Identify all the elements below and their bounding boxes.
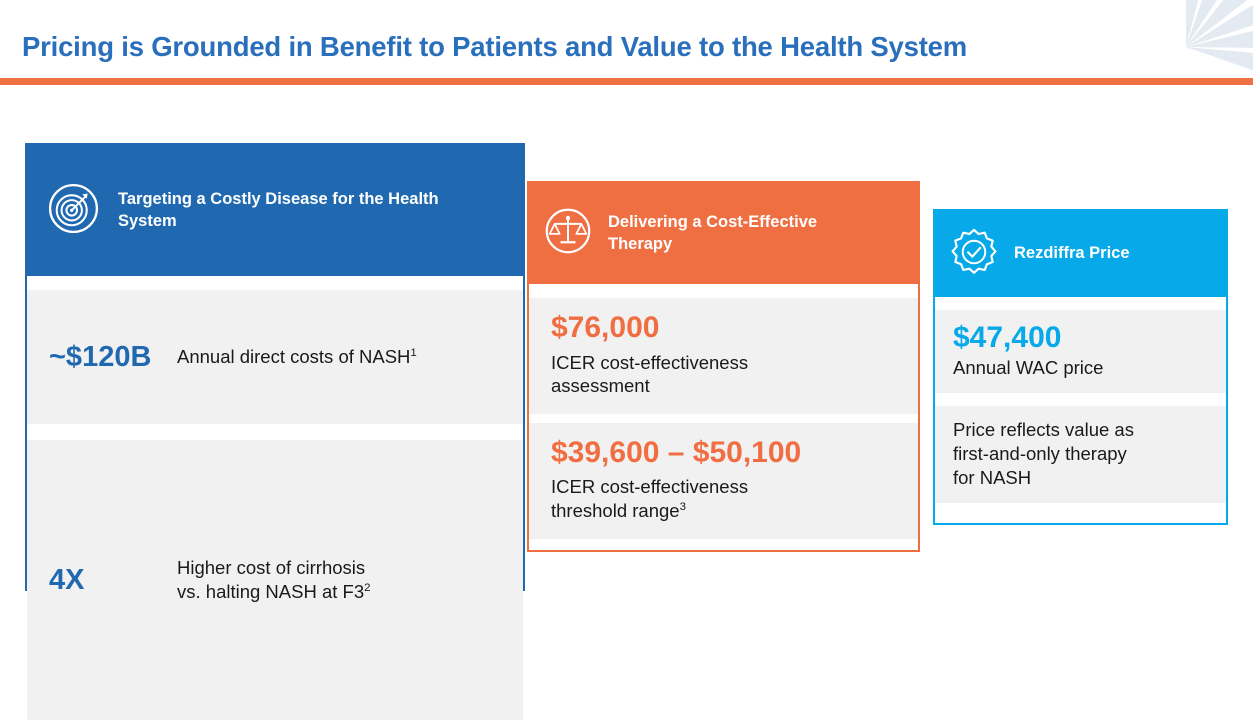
metric-description: Price reflects value asfirst-and-only th… <box>953 418 1208 489</box>
card-cost-effective-therapy-title: Delivering a Cost-Effective Therapy <box>608 212 880 256</box>
target-icon <box>47 182 100 240</box>
balance-scale-icon <box>543 206 593 261</box>
table-row: ~$120B Annual direct costs of NASH1 <box>27 290 523 424</box>
card-costly-disease-header: Targeting a Costly Disease for the Healt… <box>27 145 523 276</box>
metric-description: Annual WAC price <box>953 356 1208 380</box>
card-cost-effective-therapy-body: $76,000 ICER cost-effectivenessassessmen… <box>529 284 918 539</box>
metric-description: Annual direct costs of NASH1 <box>177 345 417 369</box>
card-rezdiffra-price-title: Rezdiffra Price <box>1014 243 1130 265</box>
metric-value: $39,600 – $50,100 <box>551 437 896 469</box>
metric-description: Higher cost of cirrhosisvs. halting NASH… <box>177 556 371 603</box>
table-row: 4X Higher cost of cirrhosisvs. halting N… <box>27 440 523 720</box>
metric-value: ~$120B <box>49 342 177 372</box>
metric-value: 4X <box>49 565 177 595</box>
footnote-marker: 1 <box>410 347 416 359</box>
card-rezdiffra-price: Rezdiffra Price $47,400 Annual WAC price… <box>933 209 1228 525</box>
table-row: $39,600 – $50,100 ICER cost-effectivenes… <box>529 423 918 539</box>
table-row: $76,000 ICER cost-effectivenessassessmen… <box>529 298 918 414</box>
card-costly-disease-body: ~$120B Annual direct costs of NASH1 4X H… <box>27 276 523 720</box>
footnote-marker: 3 <box>680 501 686 513</box>
card-costly-disease-title: Targeting a Costly Disease for the Healt… <box>118 189 448 233</box>
metric-description: ICER cost-effectivenessassessment <box>551 351 896 398</box>
decorative-fan-graphic <box>1148 0 1253 80</box>
footnote-marker: 2 <box>364 582 370 594</box>
metric-description: ICER cost-effectivenessthreshold range3 <box>551 475 896 522</box>
metric-value: $47,400 <box>953 322 1208 354</box>
card-cost-effective-therapy: Delivering a Cost-Effective Therapy $76,… <box>527 181 920 552</box>
metric-value: $76,000 <box>551 312 896 344</box>
table-row: $47,400 Annual WAC price <box>935 310 1226 393</box>
page-title: Pricing is Grounded in Benefit to Patien… <box>22 31 967 63</box>
card-costly-disease: Targeting a Costly Disease for the Healt… <box>25 143 525 591</box>
verified-badge-icon <box>949 227 999 282</box>
table-row: Price reflects value asfirst-and-only th… <box>935 406 1226 503</box>
card-cost-effective-therapy-header: Delivering a Cost-Effective Therapy <box>529 183 918 284</box>
card-rezdiffra-price-header: Rezdiffra Price <box>935 211 1226 297</box>
card-rezdiffra-price-body: $47,400 Annual WAC price Price reflects … <box>935 297 1226 503</box>
title-divider-rule <box>0 78 1253 85</box>
